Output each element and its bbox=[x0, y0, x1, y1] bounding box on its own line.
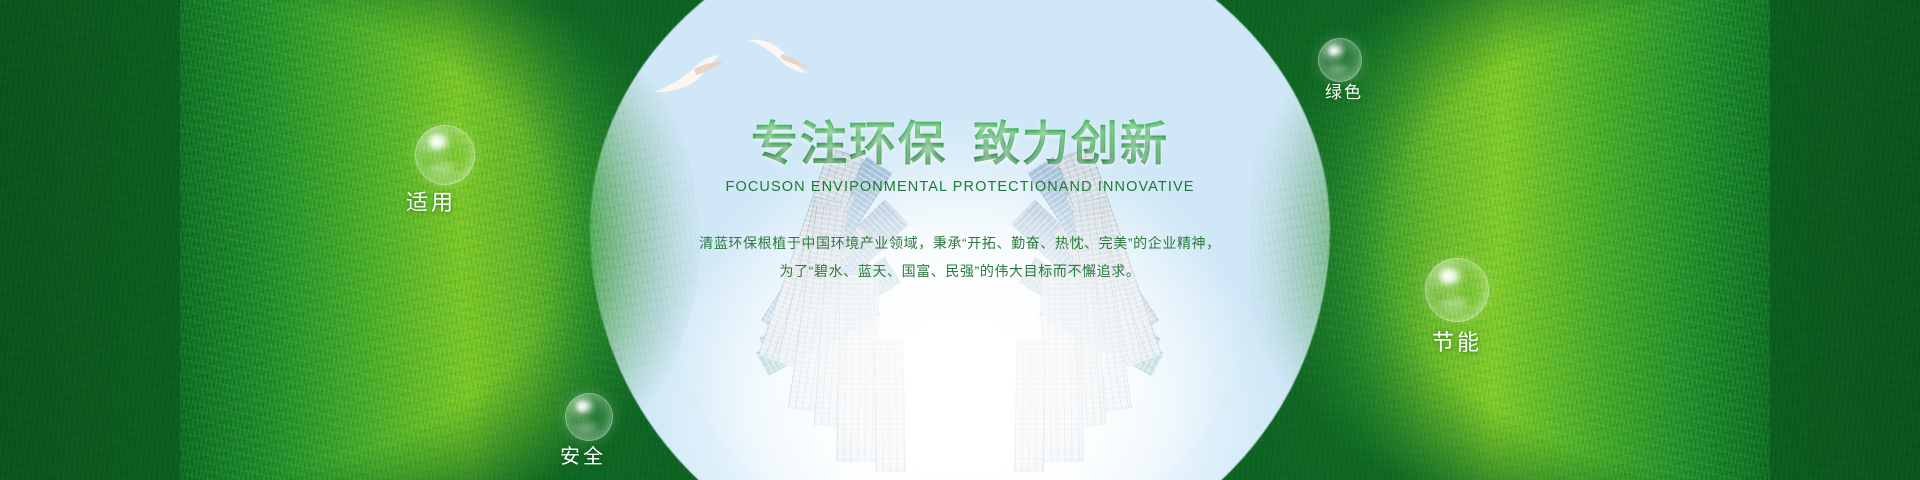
bubble-label-anquan: 安全 bbox=[560, 440, 606, 469]
bubble-icon bbox=[1318, 38, 1362, 82]
bubble-icon bbox=[415, 125, 475, 185]
dove-icon bbox=[742, 32, 818, 76]
intro-paragraph-line-2: 为了“碧水、蓝天、国富、民强”的伟大目标而不懈追求。 bbox=[580, 257, 1340, 286]
bubble-label-lvse: 绿色 bbox=[1325, 78, 1363, 103]
bubble-icon bbox=[565, 393, 613, 441]
page-title: 专注环保致力创新 bbox=[580, 118, 1340, 170]
subheadline: FOCUSON ENVIPONMENTAL PROTECTIONAND INNO… bbox=[580, 179, 1340, 195]
bubble-icon bbox=[1425, 258, 1489, 322]
eco-company-hero-banner: 适用 安全 绿色 节能 专注环保致力创新 FOCUSON ENVIPONMENT… bbox=[0, 0, 1920, 480]
bubble-label-jieneng: 节能 bbox=[1432, 325, 1482, 357]
intro-paragraph-line-1: 清蓝环保根植于中国环境产业领域，秉承“开拓、勤奋、热忱、完美”的企业精神， bbox=[580, 229, 1340, 258]
intro-paragraph: 清蓝环保根植于中国环境产业领域，秉承“开拓、勤奋、热忱、完美”的企业精神， 为了… bbox=[580, 229, 1340, 286]
bubble-label-shiyong: 适用 bbox=[406, 185, 456, 217]
hero-copy-block: 专注环保致力创新 FOCUSON ENVIPONMENTAL PROTECTIO… bbox=[580, 118, 1340, 286]
headline-part-2: 致力创新 bbox=[973, 117, 1169, 170]
dove-icon bbox=[650, 52, 734, 98]
headline-part-1: 专注环保 bbox=[751, 117, 947, 170]
